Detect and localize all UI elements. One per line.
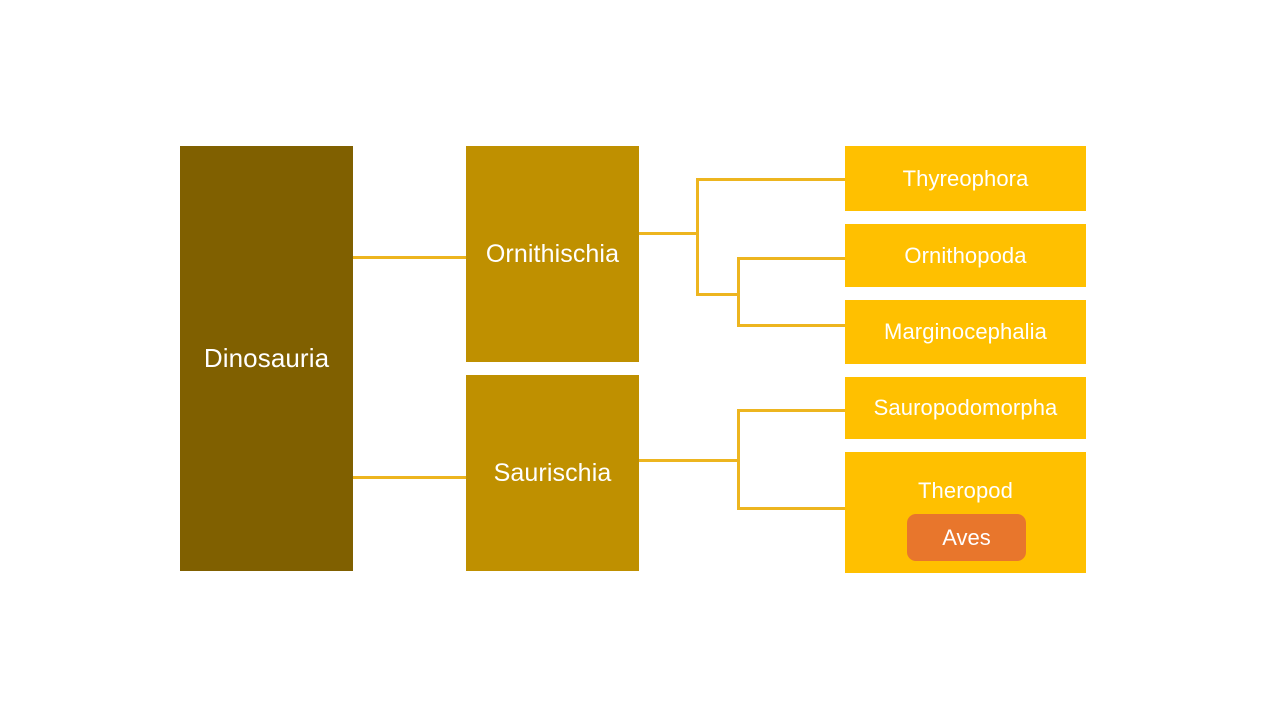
connector-ornithischia-to-thyreophora: [696, 178, 845, 181]
connector-ornithischia-trunk: [696, 178, 699, 296]
node-aves[interactable]: Aves: [907, 514, 1026, 561]
node-ornithopoda[interactable]: Ornithopoda: [845, 224, 1086, 287]
node-sauropodomorpha[interactable]: Sauropodomorpha: [845, 377, 1086, 439]
connector-saurischia-stem: [639, 459, 739, 462]
node-theropod-label: Theropod: [918, 478, 1013, 503]
connector-saurischia-trunk: [737, 409, 740, 509]
node-thyreophora[interactable]: Thyreophora: [845, 146, 1086, 211]
connector-to-ornithopoda: [737, 257, 845, 260]
connector-ornithischia-stem: [639, 232, 698, 235]
connector-ornithischia-lower-stem: [696, 293, 739, 296]
connector-to-theropod: [737, 507, 845, 510]
connector-to-sauropodomorpha: [737, 409, 845, 412]
node-thyreophora-label: Thyreophora: [903, 166, 1029, 191]
node-dinosauria[interactable]: Dinosauria: [180, 146, 353, 571]
node-ornithischia[interactable]: Ornithischia: [466, 146, 639, 362]
node-dinosauria-label: Dinosauria: [204, 344, 329, 374]
node-ornithischia-label: Ornithischia: [486, 240, 619, 269]
connector-root-to-saurischia: [353, 476, 466, 479]
node-marginocephalia[interactable]: Marginocephalia: [845, 300, 1086, 364]
node-saurischia-label: Saurischia: [494, 459, 612, 488]
node-ornithopoda-label: Ornithopoda: [904, 243, 1026, 268]
cladogram-canvas: Dinosauria Ornithischia Saurischia Thyre…: [0, 0, 1280, 720]
node-sauropodomorpha-label: Sauropodomorpha: [874, 395, 1058, 420]
connector-root-to-ornithischia: [353, 256, 466, 259]
node-aves-label: Aves: [942, 525, 991, 551]
node-marginocephalia-label: Marginocephalia: [884, 319, 1047, 344]
node-saurischia[interactable]: Saurischia: [466, 375, 639, 571]
connector-ornithopoda-marginocephalia-trunk: [737, 257, 740, 326]
connector-to-marginocephalia: [737, 324, 845, 327]
